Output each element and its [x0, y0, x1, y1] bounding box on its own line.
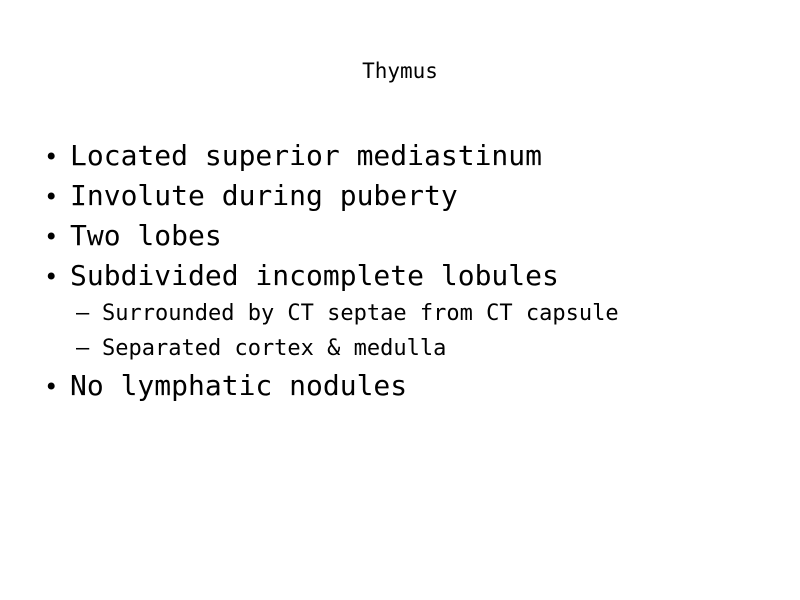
sub-list-item-label: Separated cortex & medulla: [102, 331, 446, 366]
bullet-dash-icon: –: [74, 331, 102, 366]
list-item: • Involute during puberty: [40, 176, 760, 216]
list-item-label: Involute during puberty: [70, 176, 458, 216]
list-item: • Subdivided incomplete lobules: [40, 256, 760, 296]
list-item: • Two lobes: [40, 216, 760, 256]
sub-list-item: – Separated cortex & medulla: [40, 331, 760, 366]
bullet-list: • Located superior mediastinum • Involut…: [40, 136, 760, 406]
list-item-label: Located superior mediastinum: [70, 136, 542, 176]
list-item-label: Subdivided incomplete lobules: [70, 256, 559, 296]
list-item-label: Two lobes: [70, 216, 222, 256]
slide-canvas: Thymus • Located superior mediastinum • …: [0, 0, 800, 600]
list-item-label: No lymphatic nodules: [70, 366, 407, 406]
list-item: • Located superior mediastinum: [40, 136, 760, 176]
bullet-dot-icon: •: [40, 257, 70, 297]
list-item: • No lymphatic nodules: [40, 366, 760, 406]
sub-list-item: – Surrounded by CT septae from CT capsul…: [40, 296, 760, 331]
page-title: Thymus: [0, 58, 800, 84]
sub-list-item-label: Surrounded by CT septae from CT capsule: [102, 296, 619, 331]
bullet-dash-icon: –: [74, 296, 102, 331]
bullet-dot-icon: •: [40, 177, 70, 217]
bullet-dot-icon: •: [40, 217, 70, 257]
bullet-dot-icon: •: [40, 137, 70, 177]
bullet-dot-icon: •: [40, 367, 70, 407]
